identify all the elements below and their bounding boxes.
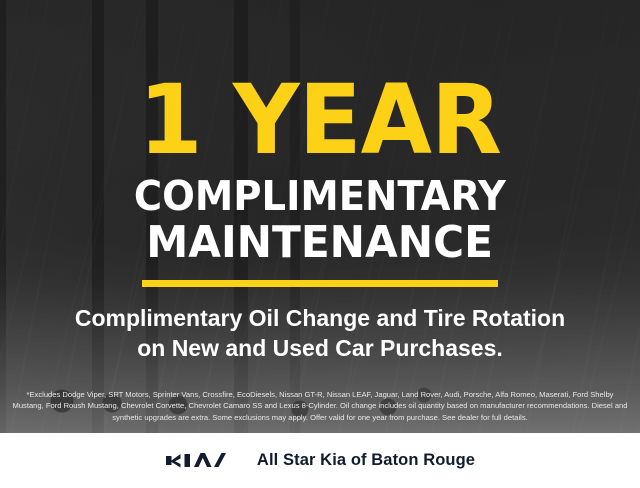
yellow-divider-rule <box>142 280 498 287</box>
footer-bar: All Star Kia of Baton Rouge <box>0 433 640 488</box>
hero-section: 1 YEAR COMPLIMENTARY MAINTENANCE Complim… <box>0 0 640 433</box>
promotional-banner: 1 YEAR COMPLIMENTARY MAINTENANCE Complim… <box>0 0 640 488</box>
subheadline: Complimentary Oil Change and Tire Rotati… <box>75 304 565 363</box>
hero-content: 1 YEAR COMPLIMENTARY MAINTENANCE Complim… <box>0 0 640 433</box>
headline-maintenance: MAINTENANCE <box>147 221 494 265</box>
headline-complimentary: COMPLIMENTARY <box>134 176 506 217</box>
headline-year: 1 YEAR <box>139 76 501 164</box>
subheadline-line-2: on New and Used Car Purchases. <box>75 334 565 363</box>
kia-logo <box>165 451 239 470</box>
disclaimer-text: *Excludes Dodge Viper, SRT Motors, Sprin… <box>11 389 629 423</box>
subheadline-line-1: Complimentary Oil Change and Tire Rotati… <box>75 304 565 333</box>
dealer-name: All Star Kia of Baton Rouge <box>257 451 475 470</box>
